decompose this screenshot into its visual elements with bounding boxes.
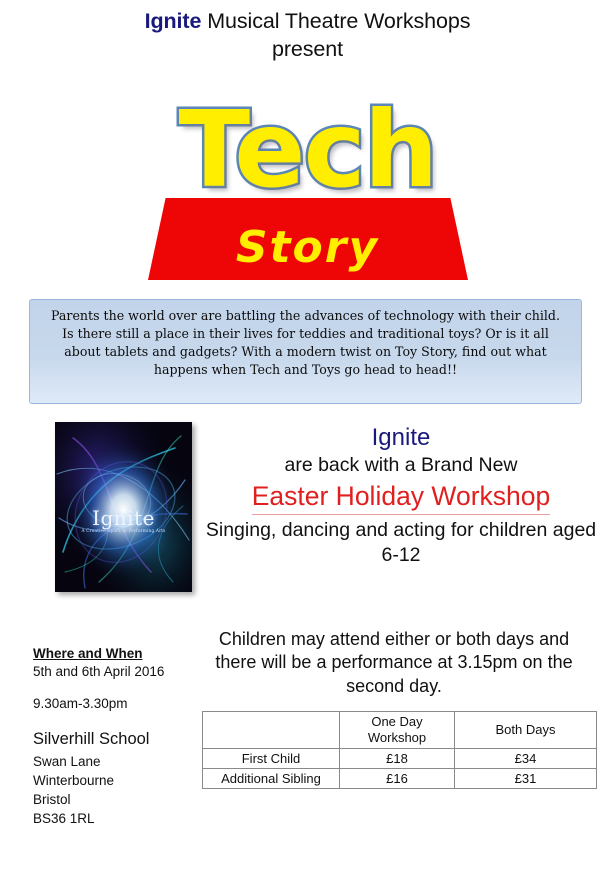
table-row: First Child £18 £34 xyxy=(203,749,597,769)
price-first-child-one-day: £18 xyxy=(340,749,455,769)
venue-address-line: Winterbourne xyxy=(33,771,208,790)
header-line-2: present xyxy=(0,36,615,64)
venue-address-line: BS36 1RL xyxy=(33,809,208,828)
venue-address-line: Bristol xyxy=(33,790,208,809)
poster-header: Ignite Musical Theatre Workshops present xyxy=(0,8,615,63)
where-and-when-dates: 5th and 6th April 2016 xyxy=(33,663,208,682)
price-first-child-both-days: £34 xyxy=(455,749,597,769)
price-additional-sibling-both-days: £31 xyxy=(455,769,597,789)
table-row: Additional Sibling £16 £31 xyxy=(203,769,597,789)
spacer-2 xyxy=(33,714,208,727)
row-label-additional-sibling: Additional Sibling xyxy=(203,769,340,789)
table-corner-cell xyxy=(203,712,340,749)
logo-word-tech: Tech xyxy=(0,98,615,203)
header-line-1: Ignite Musical Theatre Workshops xyxy=(0,8,615,36)
logo-word-story: Story xyxy=(0,226,615,270)
ignite-poster-image: Ignite A Creative Spark in Performing Ar… xyxy=(55,422,192,592)
header-line-1-rest: Musical Theatre Workshops xyxy=(201,9,470,33)
attendance-note: Children may attend either or both days … xyxy=(198,628,590,698)
spacer-1 xyxy=(33,682,208,695)
row-label-first-child: First Child xyxy=(203,749,340,769)
where-and-when-block: Where and When 5th and 6th April 2016 9.… xyxy=(33,645,208,829)
promo-back-line: are back with a Brand New xyxy=(195,453,607,478)
header-brand-name: Ignite xyxy=(145,9,202,33)
tech-story-logo: Tech Story xyxy=(0,98,615,288)
promo-brand-name: Ignite xyxy=(195,424,607,452)
table-header-both-days: Both Days xyxy=(455,712,597,749)
table-header-one-day: One Day Workshop xyxy=(340,712,455,749)
where-and-when-times: 9.30am-3.30pm xyxy=(33,695,208,714)
price-table: One Day Workshop Both Days First Child £… xyxy=(202,711,597,789)
promo-headline: Easter Holiday Workshop xyxy=(252,480,551,514)
promo-subline: Singing, dancing and acting for children… xyxy=(195,518,607,569)
venue-name: Silverhill School xyxy=(33,728,208,752)
promo-block: Ignite are back with a Brand New Easter … xyxy=(195,424,607,568)
description-box: Parents the world over are battling the … xyxy=(29,299,582,404)
venue-address-line: Swan Lane xyxy=(33,752,208,771)
where-and-when-title: Where and When xyxy=(33,645,208,663)
poster-artwork xyxy=(55,422,192,592)
price-additional-sibling-one-day: £16 xyxy=(340,769,455,789)
table-header-row: One Day Workshop Both Days xyxy=(203,712,597,749)
